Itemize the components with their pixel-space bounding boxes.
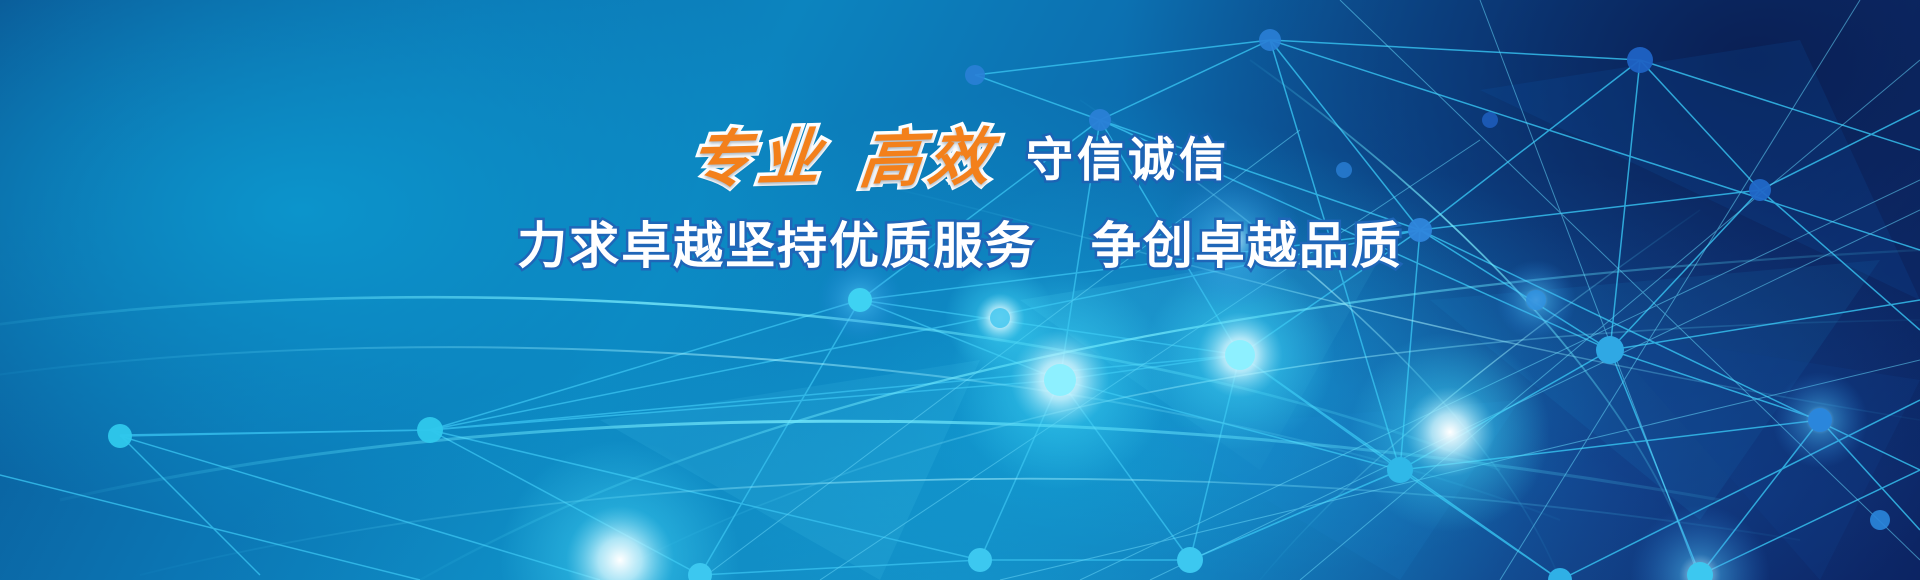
- banner-hero: 专业 高效 守信诚信 力求卓越坚持优质服务 争创卓越品质: [0, 0, 1920, 580]
- network-mesh-graphic: [0, 0, 1920, 580]
